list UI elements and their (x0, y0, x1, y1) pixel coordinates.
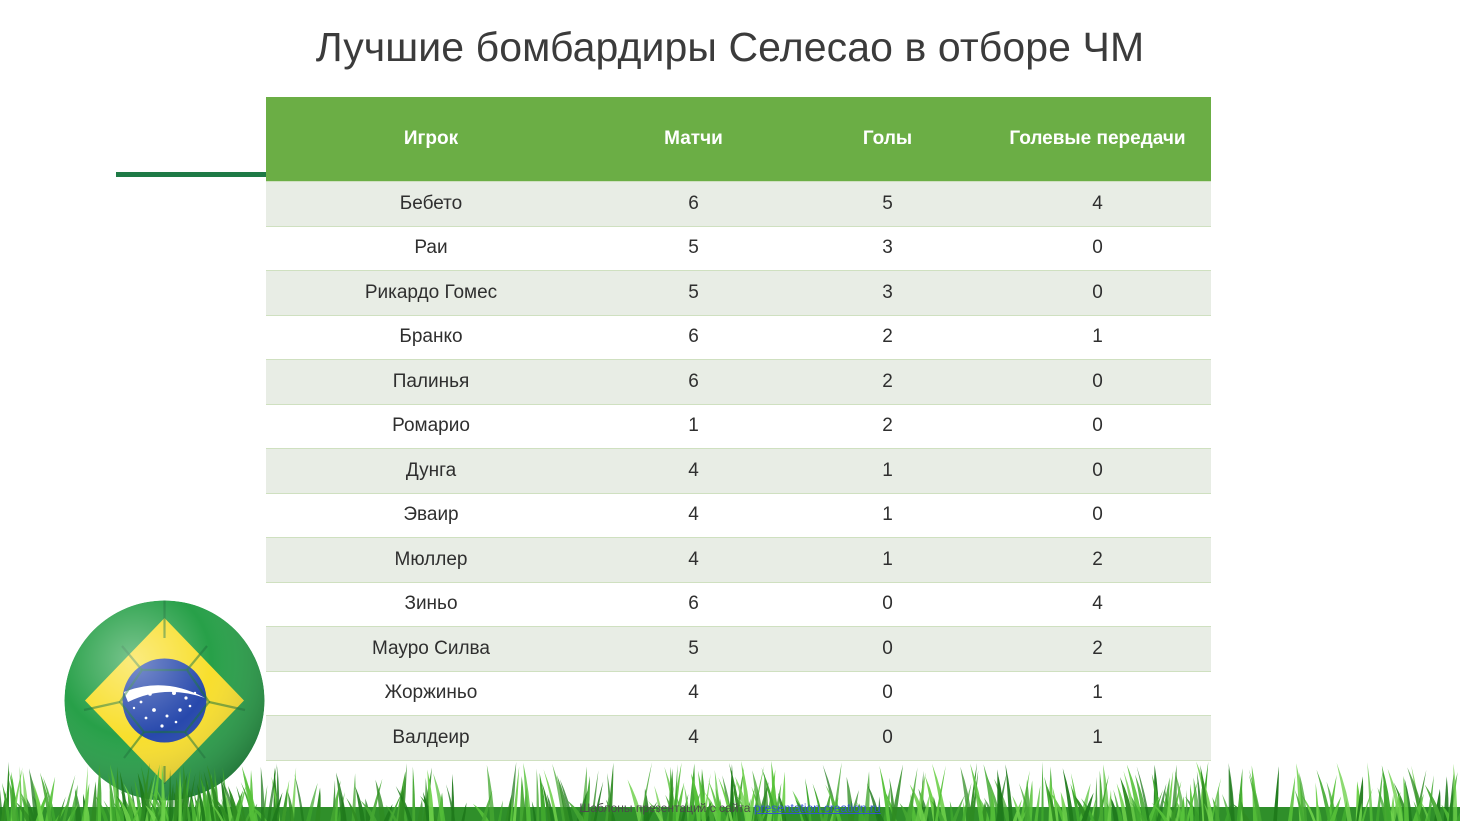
table-row[interactable]: Рикардо Гомес530 (266, 271, 1211, 316)
assists-cell: 1 (984, 315, 1211, 360)
slide-canvas: Лучшие бомбардиры Селесао в отборе ЧМ Иг… (0, 0, 1460, 821)
player-name-cell: Валдеир (266, 716, 596, 761)
matches-cell: 4 (596, 493, 791, 538)
table-row[interactable]: Эваир410 (266, 493, 1211, 538)
matches-cell: 4 (596, 716, 791, 761)
player-name-cell: Бебето (266, 182, 596, 227)
matches-cell: 6 (596, 582, 791, 627)
matches-cell: 1 (596, 404, 791, 449)
column-header-matches[interactable]: Матчи (596, 97, 791, 182)
player-name-cell: Мауро Силва (266, 627, 596, 672)
goals-cell: 3 (791, 226, 984, 271)
table-row[interactable]: Дунга410 (266, 449, 1211, 494)
player-name-cell: Эваир (266, 493, 596, 538)
footer-credit-text: Шаблоны презентаций с сайта (579, 801, 753, 815)
table-row[interactable]: Зиньо604 (266, 582, 1211, 627)
stats-table-container: Игрок Матчи Голы Голевые передачи Бебето… (266, 97, 1211, 761)
goals-cell: 1 (791, 493, 984, 538)
goals-cell: 2 (791, 404, 984, 449)
assists-cell: 0 (984, 226, 1211, 271)
footer-credit: Шаблоны презентаций с сайта presentation… (0, 801, 1460, 815)
assists-cell: 0 (984, 493, 1211, 538)
matches-cell: 6 (596, 360, 791, 405)
matches-cell: 6 (596, 315, 791, 360)
accent-rule-decoration (116, 172, 268, 177)
table-body: Бебето654Раи530Рикардо Гомес530Бранко621… (266, 182, 1211, 761)
matches-cell: 4 (596, 538, 791, 583)
goals-cell: 3 (791, 271, 984, 316)
page-title: Лучшие бомбардиры Селесао в отборе ЧМ (0, 24, 1460, 71)
goals-cell: 0 (791, 671, 984, 716)
column-header-assists[interactable]: Голевые передачи (984, 97, 1211, 182)
table-row[interactable]: Валдеир401 (266, 716, 1211, 761)
assists-cell: 1 (984, 716, 1211, 761)
assists-cell: 1 (984, 671, 1211, 716)
table-header: Игрок Матчи Голы Голевые передачи (266, 97, 1211, 182)
table-row[interactable]: Мауро Силва502 (266, 627, 1211, 672)
table-header-row: Игрок Матчи Голы Голевые передачи (266, 97, 1211, 182)
table-row[interactable]: Палинья620 (266, 360, 1211, 405)
assists-cell: 2 (984, 538, 1211, 583)
top-scorers-table: Игрок Матчи Голы Голевые передачи Бебето… (266, 97, 1211, 761)
matches-cell: 5 (596, 627, 791, 672)
player-name-cell: Жоржиньо (266, 671, 596, 716)
footer-credit-link[interactable]: presentation-creation.ru (754, 801, 881, 815)
goals-cell: 1 (791, 538, 984, 583)
goals-cell: 5 (791, 182, 984, 227)
table-row[interactable]: Бебето654 (266, 182, 1211, 227)
goals-cell: 0 (791, 582, 984, 627)
player-name-cell: Бранко (266, 315, 596, 360)
assists-cell: 4 (984, 182, 1211, 227)
player-name-cell: Ромарио (266, 404, 596, 449)
table-row[interactable]: Мюллер412 (266, 538, 1211, 583)
player-name-cell: Рикардо Гомес (266, 271, 596, 316)
assists-cell: 4 (984, 582, 1211, 627)
column-header-goals[interactable]: Голы (791, 97, 984, 182)
player-name-cell: Палинья (266, 360, 596, 405)
goals-cell: 0 (791, 716, 984, 761)
column-header-player[interactable]: Игрок (266, 97, 596, 182)
goals-cell: 1 (791, 449, 984, 494)
matches-cell: 4 (596, 671, 791, 716)
assists-cell: 0 (984, 271, 1211, 316)
matches-cell: 5 (596, 226, 791, 271)
table-row[interactable]: Ромарио120 (266, 404, 1211, 449)
matches-cell: 5 (596, 271, 791, 316)
goals-cell: 2 (791, 315, 984, 360)
player-name-cell: Раи (266, 226, 596, 271)
matches-cell: 6 (596, 182, 791, 227)
assists-cell: 0 (984, 449, 1211, 494)
table-row[interactable]: Раи530 (266, 226, 1211, 271)
player-name-cell: Зиньо (266, 582, 596, 627)
assists-cell: 0 (984, 360, 1211, 405)
player-name-cell: Дунга (266, 449, 596, 494)
assists-cell: 2 (984, 627, 1211, 672)
matches-cell: 4 (596, 449, 791, 494)
goals-cell: 0 (791, 627, 984, 672)
table-row[interactable]: Жоржиньо401 (266, 671, 1211, 716)
table-row[interactable]: Бранко621 (266, 315, 1211, 360)
goals-cell: 2 (791, 360, 984, 405)
player-name-cell: Мюллер (266, 538, 596, 583)
assists-cell: 0 (984, 404, 1211, 449)
